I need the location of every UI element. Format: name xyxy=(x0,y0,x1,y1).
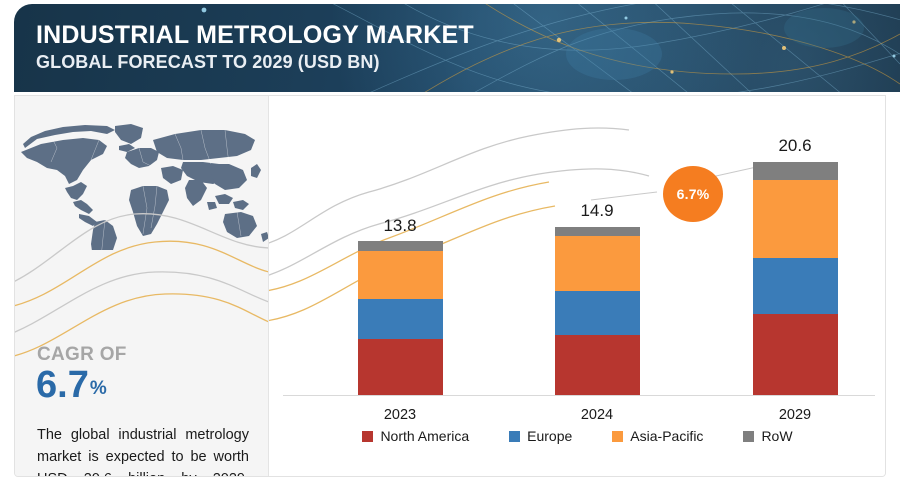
summary-paragraph: The global industrial metrology market i… xyxy=(37,424,249,477)
bar-segment-asia-pacific-2024 xyxy=(555,236,640,291)
bar-2023[interactable] xyxy=(358,241,443,395)
chart-baseline xyxy=(283,395,875,396)
bar-segment-row-2024 xyxy=(555,227,640,236)
left-summary-panel: CAGR OF 6.7% The global industrial metro… xyxy=(15,96,269,477)
bar-segment-asia-pacific-2023 xyxy=(358,251,443,299)
legend-label-europe: Europe xyxy=(527,428,572,444)
legend-item-north-america[interactable]: North America xyxy=(362,428,469,444)
legend-swatch-north-america xyxy=(362,431,373,442)
legend-label-row: RoW xyxy=(761,428,792,444)
legend-item-asia-pacific[interactable]: Asia-Pacific xyxy=(612,428,703,444)
bar-segment-north-america-2024 xyxy=(555,335,640,395)
bar-segment-north-america-2029 xyxy=(753,314,838,395)
header-banner: INDUSTRIAL METROLOGY MARKET GLOBAL FOREC… xyxy=(14,4,900,92)
content-card: CAGR OF 6.7% The global industrial metro… xyxy=(14,95,886,477)
legend-item-row[interactable]: RoW xyxy=(743,428,792,444)
infographic-root: INDUSTRIAL METROLOGY MARKET GLOBAL FOREC… xyxy=(0,0,900,481)
bar-segment-europe-2024 xyxy=(555,291,640,335)
x-axis-label-2023: 2023 xyxy=(340,407,460,423)
legend-swatch-row xyxy=(743,431,754,442)
bar-segment-europe-2023 xyxy=(358,299,443,339)
chart-legend: North America Europe Asia-Pacific RoW xyxy=(269,428,886,444)
page-title: INDUSTRIAL METROLOGY MARKET xyxy=(36,20,474,50)
bar-total-2023: 13.8 xyxy=(340,216,460,236)
legend-item-europe[interactable]: Europe xyxy=(509,428,572,444)
header-text-block: INDUSTRIAL METROLOGY MARKET GLOBAL FOREC… xyxy=(36,20,474,74)
x-axis-label-2024: 2024 xyxy=(537,407,657,423)
cagr-value: 6.7% xyxy=(36,364,107,410)
cagr-number: 6.7 xyxy=(36,364,89,406)
bar-segment-row-2023 xyxy=(358,241,443,251)
legend-swatch-europe xyxy=(509,431,520,442)
world-map-icon xyxy=(15,118,269,250)
bar-segment-asia-pacific-2029 xyxy=(753,180,838,258)
page-subtitle: GLOBAL FORECAST TO 2029 (USD BN) xyxy=(36,50,474,74)
bar-2024[interactable] xyxy=(555,227,640,395)
x-axis-label-2029: 2029 xyxy=(735,407,855,423)
legend-label-north-america: North America xyxy=(380,428,469,444)
legend-label-asia-pacific: Asia-Pacific xyxy=(630,428,703,444)
cagr-percent-sign: % xyxy=(90,378,107,399)
legend-swatch-asia-pacific xyxy=(612,431,623,442)
bar-total-2029: 20.6 xyxy=(735,136,855,156)
bar-segment-europe-2029 xyxy=(753,258,838,314)
cagr-callout-bubble[interactable]: 6.7% xyxy=(663,166,723,222)
cagr-callout-label: 6.7% xyxy=(677,186,710,202)
chart-panel: 13.8 2023 14.9 2024 20.6 2029 6 xyxy=(269,96,886,477)
bar-segment-north-america-2023 xyxy=(358,339,443,395)
bar-2029[interactable] xyxy=(753,162,838,395)
cagr-label: CAGR OF xyxy=(37,344,127,366)
bar-segment-row-2029 xyxy=(753,162,838,180)
bar-total-2024: 14.9 xyxy=(537,201,657,221)
